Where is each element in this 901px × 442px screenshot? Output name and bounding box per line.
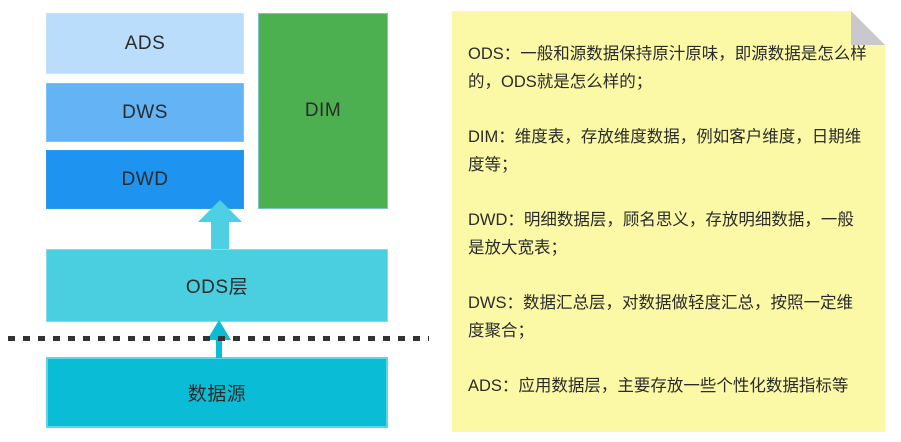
layer-label-dws: DWS [122,102,168,124]
note-paragraph-ads: ADS：应用数据层，主要存放一些个性化数据指标等 [468,372,867,400]
layer-box-dim: DIM [258,13,388,209]
layer-box-dws: DWS [46,83,244,142]
explanation-note: ODS：一般和源数据保持原汁原味，即源数据是怎么样的，ODS就是怎么样的； DI… [452,11,885,432]
layer-label-dim: DIM [305,100,341,122]
layer-box-data-source: 数据源 [46,357,388,428]
layer-label-ods: ODS层 [186,272,248,299]
note-paragraph-dws: DWS：数据汇总层，对数据做轻度汇总，按照一定维度聚合； [468,289,867,345]
diagram-canvas: ADS DWS DWD DIM ODS层 数据源 ODS：一般和源数据保持原汁原… [0,0,901,442]
layer-box-ods: ODS层 [46,249,388,322]
note-paragraph-dim: DIM：维度表，存放维度数据，例如客户维度，日期维度等； [468,123,867,179]
up-arrow-icon-ods-to-dwd [198,200,242,249]
dotted-divider [8,336,429,341]
layer-box-ads: ADS [46,13,244,74]
note-text-block: ODS：一般和源数据保持原汁原味，即源数据是怎么样的，ODS就是怎么样的； DI… [468,40,867,400]
note-paragraph-ods: ODS：一般和源数据保持原汁原味，即源数据是怎么样的，ODS就是怎么样的； [468,40,867,96]
layer-label-dwd: DWD [122,169,169,191]
note-paragraph-dwd: DWD：明细数据层，顾名思义，存放明细数据，一般是放大宽表； [468,206,867,262]
layer-label-ads: ADS [125,33,166,55]
layer-label-data-source: 数据源 [188,379,247,406]
